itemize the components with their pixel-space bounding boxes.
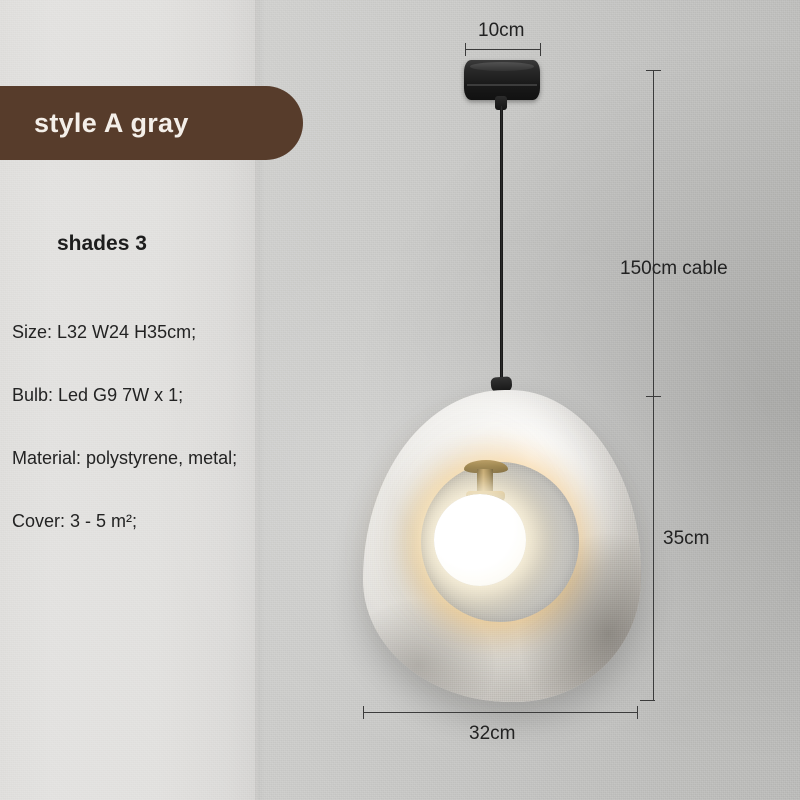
spec-bulb: Bulb: Led G9 7W x 1; xyxy=(12,385,262,406)
style-badge: style A gray xyxy=(0,86,303,160)
dimension-vertical-tick-mid xyxy=(646,396,661,397)
spec-cover: Cover: 3 - 5 m²; xyxy=(12,511,262,532)
product-image: style A gray shades 3 Size: L32 W24 H35c… xyxy=(0,0,800,800)
dimension-canopy-width-tick-left xyxy=(465,43,466,56)
variant-heading: shades 3 xyxy=(57,232,147,256)
spec-size: Size: L32 W24 H35cm; xyxy=(12,322,262,343)
ceiling-canopy-icon xyxy=(464,60,540,100)
canopy-band xyxy=(467,84,537,86)
style-badge-label: style A gray xyxy=(34,108,189,139)
dimension-vertical-line xyxy=(653,70,654,701)
dimension-shade-width-tick-right xyxy=(637,706,638,719)
spec-material: Material: polystyrene, metal; xyxy=(12,448,262,469)
canopy-highlight xyxy=(470,62,534,71)
dimension-vertical-tick-top xyxy=(646,70,661,71)
dimension-shade-width-tick-left xyxy=(363,706,364,719)
dimension-canopy-width-line xyxy=(465,49,541,50)
dimension-shade-width-label: 32cm xyxy=(469,723,515,745)
dimension-shade-width-line xyxy=(363,712,637,713)
dimension-canopy-width-label: 10cm xyxy=(478,20,524,42)
hanging-cable xyxy=(500,106,503,388)
dimension-vertical-tick-bottom xyxy=(640,700,655,701)
light-bulb-icon xyxy=(434,494,526,586)
dimension-canopy-width-tick-right xyxy=(540,43,541,56)
dimension-shade-height-label: 35cm xyxy=(663,528,709,550)
dimension-cable-length-label: 150cm cable xyxy=(620,258,728,280)
spec-list: Size: L32 W24 H35cm; Bulb: Led G9 7W x 1… xyxy=(12,322,262,574)
